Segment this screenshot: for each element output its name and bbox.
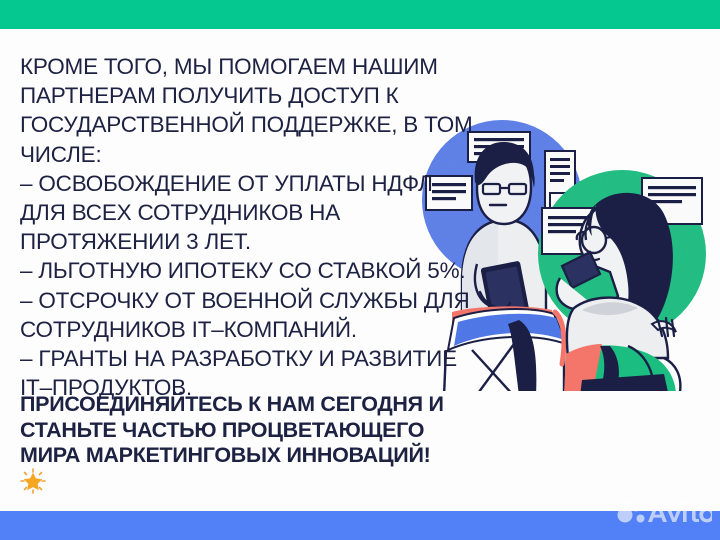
- body-copy-block: КРОМЕ ТОГО, МЫ ПОМОГАЕМ НАШИМ ПАРТНЕРАМ …: [20, 52, 450, 402]
- poster-canvas: КРОМЕ ТОГО, МЫ ПОМОГАЕМ НАШИМ ПАРТНЕРАМ …: [0, 0, 720, 540]
- body-line: – ГРАНТЫ НА РАЗРАБОТКУ И РАЗВИТИЕ: [20, 344, 450, 373]
- body-line: ЧИСЛЕ:: [20, 140, 450, 169]
- body-line: СОТРУДНИКОВ IT–КОМПАНИЙ.: [20, 315, 450, 344]
- star-emoji: [20, 468, 46, 494]
- body-line: – ЛЬГОТНУЮ ИПОТЕКУ СО СТАВКОЙ 5%.: [20, 256, 450, 285]
- body-line: ПАРТНЕРАМ ПОЛУЧИТЬ ДОСТУП К: [20, 81, 450, 110]
- body-line: ГОСУДАРСТВЕННОЙ ПОДДЕРЖКЕ, В ТОМ: [20, 110, 450, 139]
- cta-line: ПРИСОЕДИНЯЙТЕСЬ К НАМ СЕГОДНЯ И: [20, 392, 470, 418]
- call-to-action-block: ПРИСОЕДИНЯЙТЕСЬ К НАМ СЕГОДНЯ И СТАНЬТЕ …: [20, 392, 470, 469]
- cta-line: СТАНЬТЕ ЧАСТЬЮ ПРОЦВЕТАЮЩЕГО: [20, 418, 470, 444]
- two-people-with-phones-illustration: [414, 96, 720, 391]
- body-line: – ОСВОБОЖДЕНИЕ ОТ УПЛАТЫ НДФЛ: [20, 169, 450, 198]
- avito-watermark: [616, 498, 712, 528]
- body-line: ДЛЯ ВСЕХ СОТРУДНИКОВ НА: [20, 198, 450, 227]
- body-line: КРОМЕ ТОГО, МЫ ПОМОГАЕМ НАШИМ: [20, 52, 450, 81]
- bottom-blue-band: [0, 511, 720, 540]
- body-line: ПРОТЯЖЕНИИ 3 ЛЕТ.: [20, 227, 450, 256]
- body-line: – ОТСРОЧКУ ОТ ВОЕННОЙ СЛУЖБЫ ДЛЯ: [20, 286, 450, 315]
- top-green-band: [0, 0, 720, 29]
- cta-line: МИРА МАРКЕТИНГОВЫХ ИННОВАЦИЙ!: [20, 443, 470, 469]
